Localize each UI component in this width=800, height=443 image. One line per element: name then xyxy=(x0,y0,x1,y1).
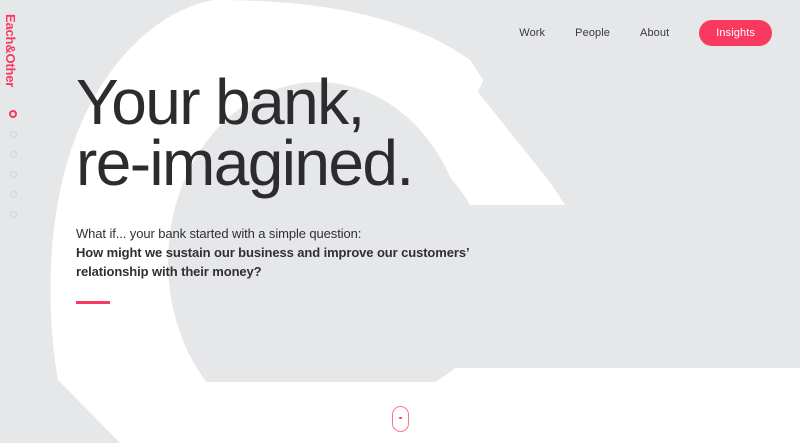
accent-divider xyxy=(76,301,110,304)
insights-button[interactable]: Insights xyxy=(699,20,772,46)
dot-nav-item-5[interactable] xyxy=(10,191,17,198)
dot-nav-item-1[interactable] xyxy=(9,110,17,118)
page-title: Your bank, re-imagined. xyxy=(76,72,696,195)
dot-nav-item-6[interactable] xyxy=(10,211,17,218)
dot-nav-item-3[interactable] xyxy=(10,151,17,158)
nav-link-work[interactable]: Work xyxy=(519,27,545,39)
subheading-line-1: What if... your bank started with a simp… xyxy=(76,224,636,243)
dot-nav-item-4[interactable] xyxy=(10,171,17,178)
subheading-line-2: How might we sustain our business and im… xyxy=(76,243,636,262)
dot-nav-item-2[interactable] xyxy=(10,131,17,138)
main-navigation: Work People About Insights xyxy=(519,20,772,46)
brand-logo[interactable]: Each&Other xyxy=(4,14,17,87)
mouse-wheel-dot xyxy=(399,417,402,420)
headline-text: Your bank, re-imagined. xyxy=(76,66,413,199)
nav-link-about[interactable]: About xyxy=(640,27,669,39)
page-root: Each&Other Work People About Insights Yo… xyxy=(0,0,800,443)
mouse-scroll-icon[interactable] xyxy=(392,406,409,432)
nav-link-people[interactable]: People xyxy=(575,27,610,39)
subheading-line-3: relationship with their money? xyxy=(76,262,636,281)
section-dot-nav[interactable] xyxy=(9,110,17,218)
hero-subheading: What if... your bank started with a simp… xyxy=(76,224,636,281)
